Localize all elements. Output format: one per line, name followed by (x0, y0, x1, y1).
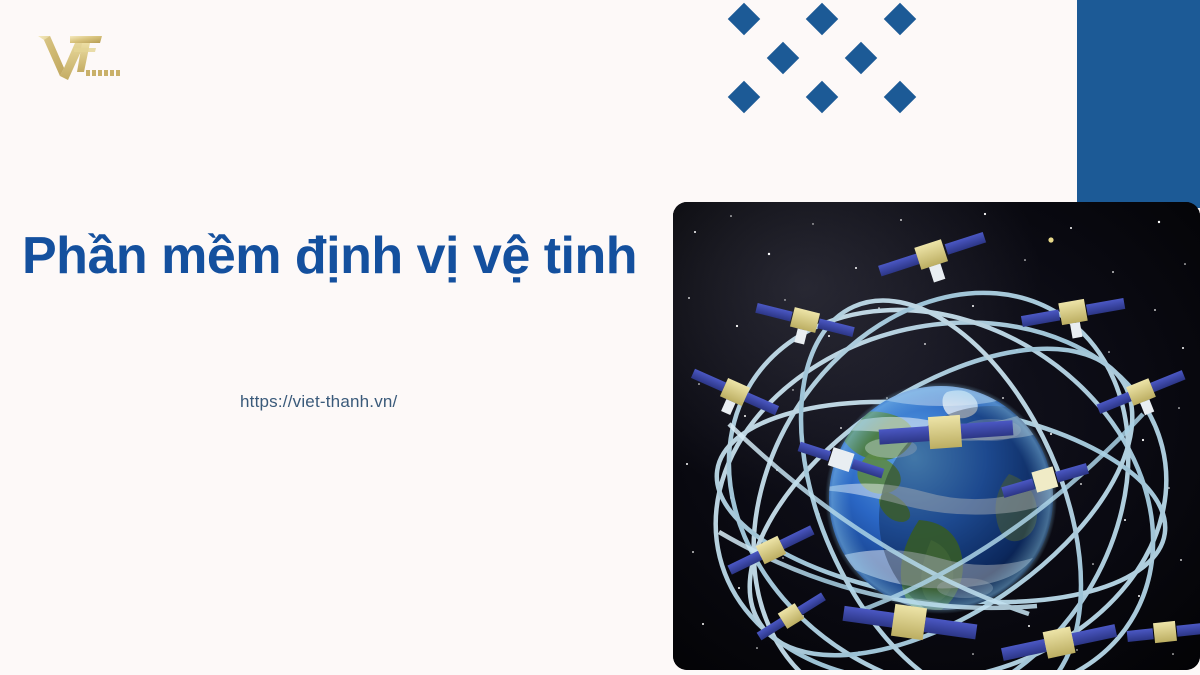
decorative-diamond (767, 42, 800, 75)
gps-satellite-constellation-image (673, 202, 1200, 670)
slide-canvas: Phần mềm định vị vệ tinh https://viet-th… (0, 0, 1200, 675)
decorative-diamond (845, 42, 878, 75)
decorative-diamond (806, 81, 839, 114)
decorative-diamond (728, 3, 761, 36)
decorative-diamond (884, 3, 917, 36)
page-title: Phần mềm định vị vệ tinh (22, 228, 637, 285)
decorative-diamond (806, 3, 839, 36)
logo-group-wordmark (86, 70, 120, 76)
website-url: https://viet-thanh.vn/ (240, 392, 397, 412)
blue-accent-block (1077, 0, 1200, 208)
bright-star (1048, 237, 1053, 242)
decorative-diamond (728, 81, 761, 114)
vt-group-logo (30, 30, 130, 85)
decorative-diamond (884, 81, 917, 114)
